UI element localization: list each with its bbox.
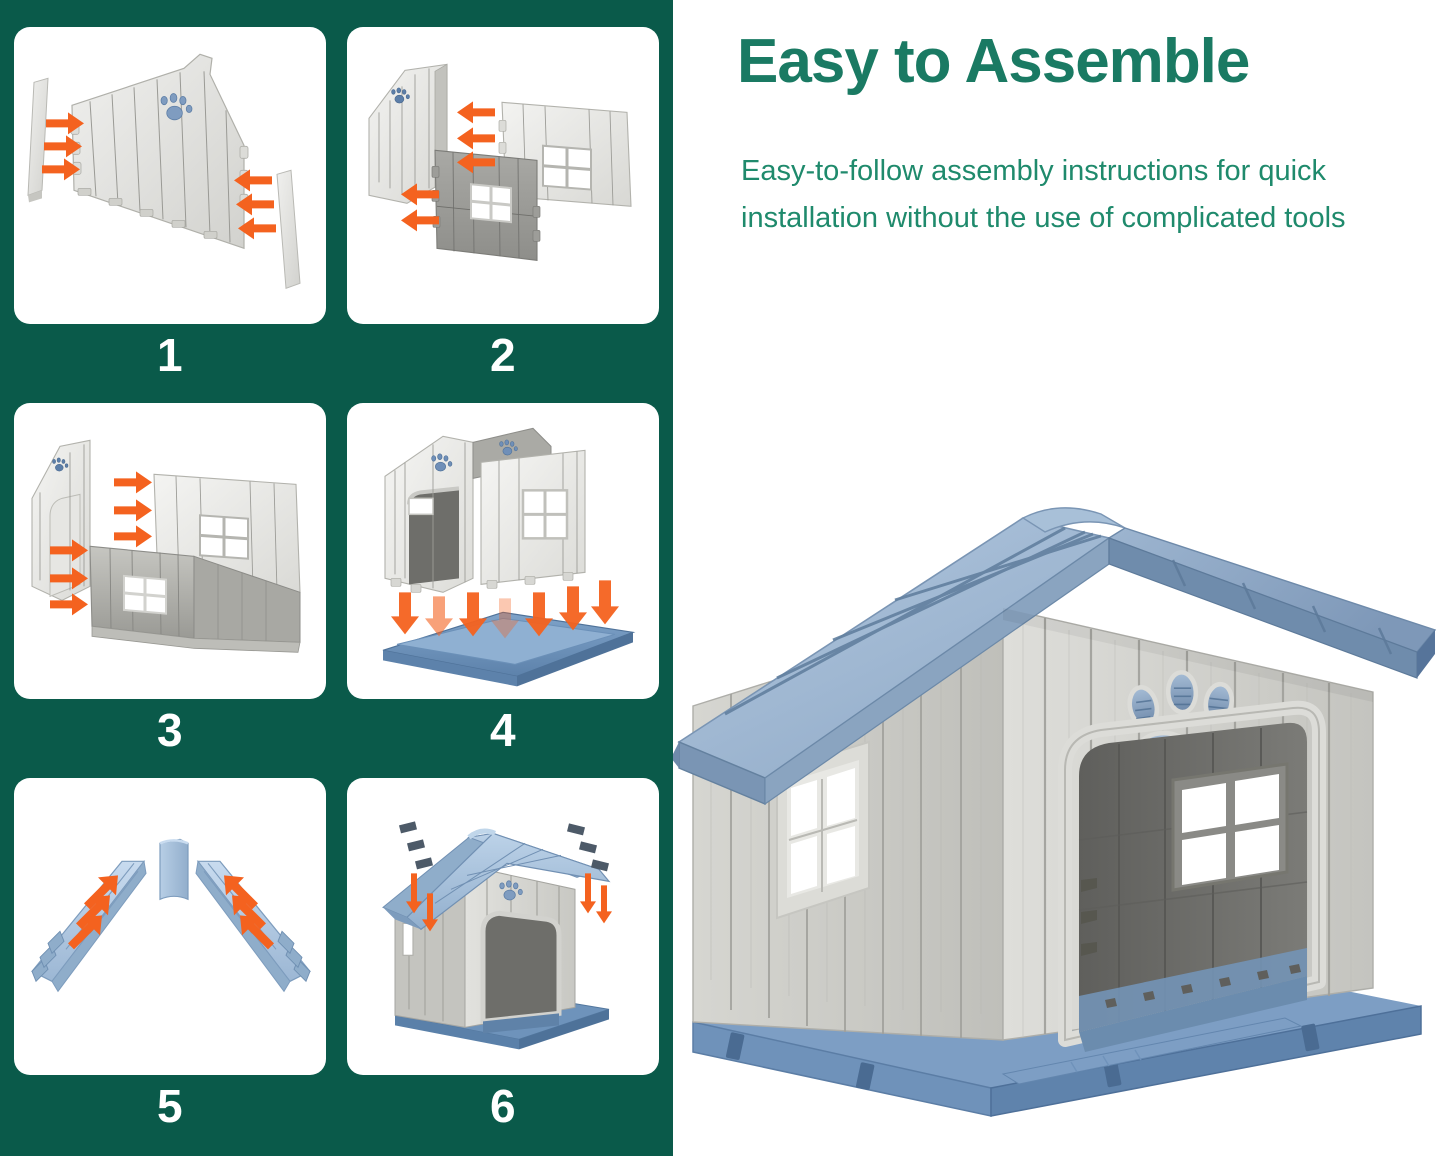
window — [471, 184, 511, 222]
wall-assembly — [385, 428, 585, 592]
dog-house-render — [673, 440, 1445, 1156]
page-subtitle: Easy-to-follow assembly instructions for… — [741, 148, 1413, 242]
assembly-steps-panel: 1 — [0, 0, 673, 1156]
step-4-illustration — [347, 403, 659, 700]
step-2: 2 — [347, 27, 659, 386]
step-4: 4 — [347, 403, 659, 762]
step-4-card — [347, 403, 659, 700]
step-1-number: 1 — [14, 324, 326, 386]
infographic-page: 1 — [0, 0, 1445, 1156]
interior-window — [1173, 764, 1287, 890]
window — [523, 490, 567, 538]
step-6-illustration — [347, 778, 659, 1075]
product-hero-image — [673, 440, 1445, 1156]
step-6-card — [347, 778, 659, 1075]
step-3: 3 — [14, 403, 326, 762]
assembled-walls — [90, 474, 300, 652]
arrows-left — [42, 112, 84, 180]
front-wall-panel-gray — [432, 150, 540, 260]
step-6-number: 6 — [347, 1075, 659, 1137]
page-title: Easy to Assemble — [737, 27, 1427, 96]
front-wall — [1003, 608, 1373, 1052]
window — [124, 576, 166, 614]
step-5: 5 — [14, 778, 326, 1137]
step-6: 6 — [347, 778, 659, 1137]
steps-grid: 1 — [14, 27, 659, 1137]
step-5-number: 5 — [14, 1075, 326, 1137]
step-4-number: 4 — [347, 699, 659, 761]
step-2-number: 2 — [347, 324, 659, 386]
step-1: 1 — [14, 27, 326, 386]
ridge-cap — [160, 840, 188, 900]
step-1-illustration — [14, 27, 326, 324]
window — [200, 515, 248, 558]
step-2-illustration — [347, 27, 659, 324]
step-3-number: 3 — [14, 699, 326, 761]
step-2-card — [347, 27, 659, 324]
left-rail — [28, 78, 48, 202]
step-3-card — [14, 403, 326, 700]
step-5-illustration — [14, 778, 326, 1075]
arrows-right — [234, 169, 276, 239]
window — [543, 146, 591, 190]
back-wall-panel — [71, 54, 248, 248]
doorway — [1065, 708, 1319, 1052]
right-rail — [277, 170, 300, 288]
step-1-card — [14, 27, 326, 324]
step-5-card — [14, 778, 326, 1075]
step-3-illustration — [14, 403, 326, 700]
